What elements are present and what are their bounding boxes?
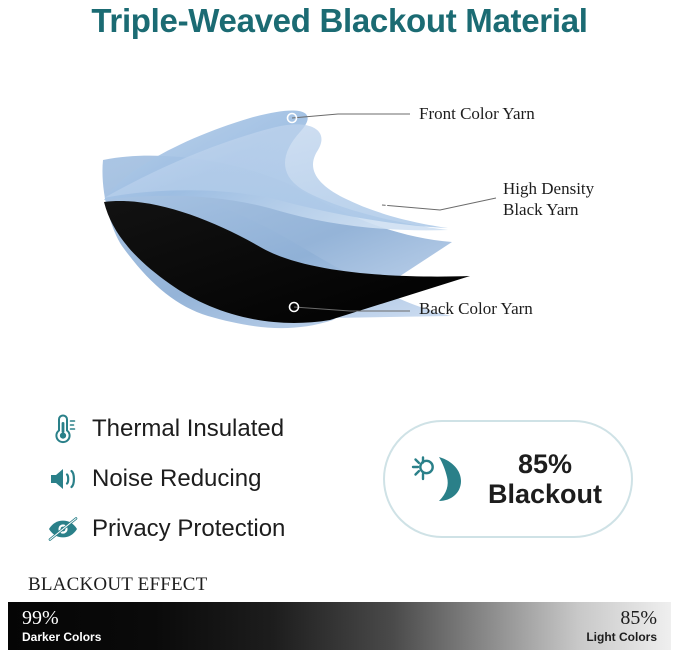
callout-line-high-density bbox=[382, 198, 496, 210]
feature-label-privacy: Privacy Protection bbox=[92, 515, 285, 543]
page-title: Triple-Weaved Blackout Material bbox=[0, 2, 679, 40]
speaker-mute-icon bbox=[46, 462, 80, 496]
callout-label-back: Back Color Yarn bbox=[419, 298, 533, 319]
feature-item-privacy: Privacy Protection bbox=[46, 508, 376, 550]
feature-item-noise: Noise Reducing bbox=[46, 458, 376, 500]
eye-off-icon bbox=[46, 512, 80, 546]
blackout-effect-right-label: Light Colors bbox=[586, 630, 657, 644]
callout-label-front: Front Color Yarn bbox=[419, 103, 535, 124]
blackout-effect-left-percent: 99% bbox=[22, 606, 101, 630]
blackout-badge-percent: 85% bbox=[518, 449, 572, 479]
blackout-badge-text: 85% Blackout bbox=[473, 449, 631, 509]
callout-label-high-density-line2: Black Yarn bbox=[503, 200, 579, 219]
blackout-effect-right-percent: 85% bbox=[586, 606, 657, 630]
blackout-effect-left: 99% Darker Colors bbox=[22, 606, 101, 644]
blackout-effect-right: 85% Light Colors bbox=[586, 606, 657, 644]
blackout-effect-title: BLACKOUT EFFECT bbox=[28, 574, 207, 596]
blackout-effect-gradient-bar: 99% Darker Colors 85% Light Colors bbox=[8, 602, 671, 650]
feature-list: Thermal Insulated Noise Reducing Privacy… bbox=[46, 408, 376, 558]
feature-item-thermal: Thermal Insulated bbox=[46, 408, 376, 450]
thermometer-icon bbox=[46, 412, 80, 446]
fabric-layers-diagram: Front Color Yarn High Density Black Yarn… bbox=[0, 70, 679, 360]
blackout-badge-label: Blackout bbox=[488, 479, 602, 509]
blackout-badge: 85% Blackout bbox=[383, 420, 633, 538]
feature-label-noise: Noise Reducing bbox=[92, 465, 261, 493]
blackout-effect-left-label: Darker Colors bbox=[22, 630, 101, 644]
callout-label-high-density: High Density Black Yarn bbox=[503, 178, 594, 221]
callout-label-high-density-line1: High Density bbox=[503, 179, 594, 198]
feature-label-thermal: Thermal Insulated bbox=[92, 415, 284, 443]
callout-line-front bbox=[292, 114, 410, 118]
sun-blocked-icon bbox=[407, 446, 473, 512]
